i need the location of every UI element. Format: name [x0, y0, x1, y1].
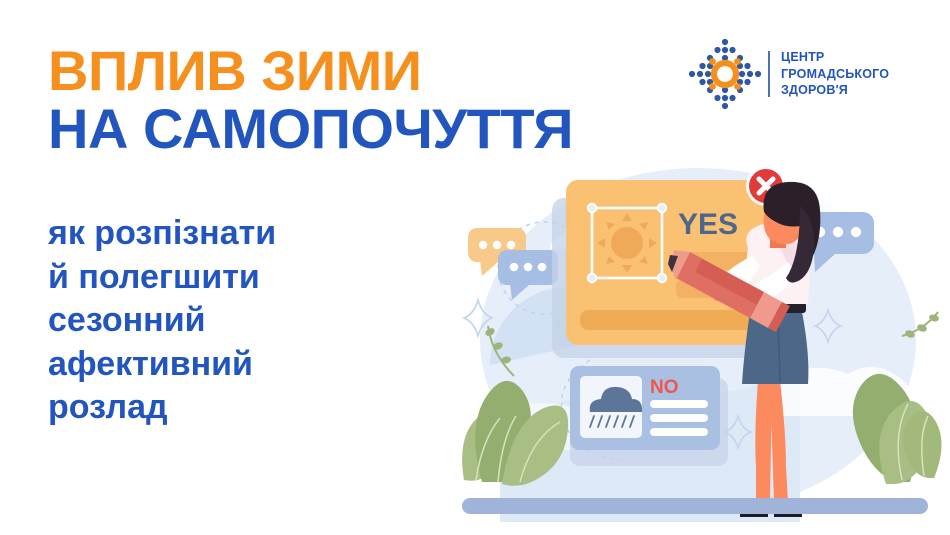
subtitle: як розпізнати й полегшити сезонний афект… [48, 212, 408, 430]
no-card-bar-1 [650, 400, 708, 408]
logo-text-line-1: ЦЕНТР [781, 49, 889, 66]
yes-label: YES [678, 208, 738, 241]
ground-bar [462, 498, 928, 514]
subtitle-line-1: як розпізнати [48, 212, 408, 256]
yes-card-bar-3 [580, 310, 766, 330]
logo-text: ЦЕНТР ГРОМАДСЬКОГО ЗДОРОВ'Я [781, 49, 889, 99]
logo-text-line-3: ЗДОРОВ'Я [781, 82, 889, 99]
organization-logo: ЦЕНТР ГРОМАДСЬКОГО ЗДОРОВ'Я [686, 36, 901, 112]
logo-text-line-2: ГРОМАДСЬКОГО [781, 66, 889, 83]
radial-dot-logo-mark-icon [686, 36, 764, 112]
subtitle-line-3: сезонний [48, 299, 408, 343]
no-card[interactable]: NO [570, 366, 720, 450]
subtitle-line-4: афективний [48, 343, 408, 387]
title-line-1: ВПЛИВ ЗИМИ [48, 42, 648, 100]
title-line-2: НА САМОПОЧУТТЯ [48, 100, 648, 158]
no-card-bar-2 [650, 414, 708, 422]
subtitle-line-2: й полегшити [48, 256, 408, 300]
poster-canvas: ВПЛИВ ЗИМИ НА САМОПОЧУТТЯ як розпізнати … [0, 0, 950, 535]
logo-divider [768, 51, 770, 97]
page-title: ВПЛИВ ЗИМИ НА САМОПОЧУТТЯ [48, 42, 648, 157]
no-label: NO [650, 377, 679, 398]
no-card-bar-3 [650, 428, 708, 436]
hero-illustration: YES [440, 150, 950, 535]
subtitle-line-5: розлад [48, 386, 408, 430]
